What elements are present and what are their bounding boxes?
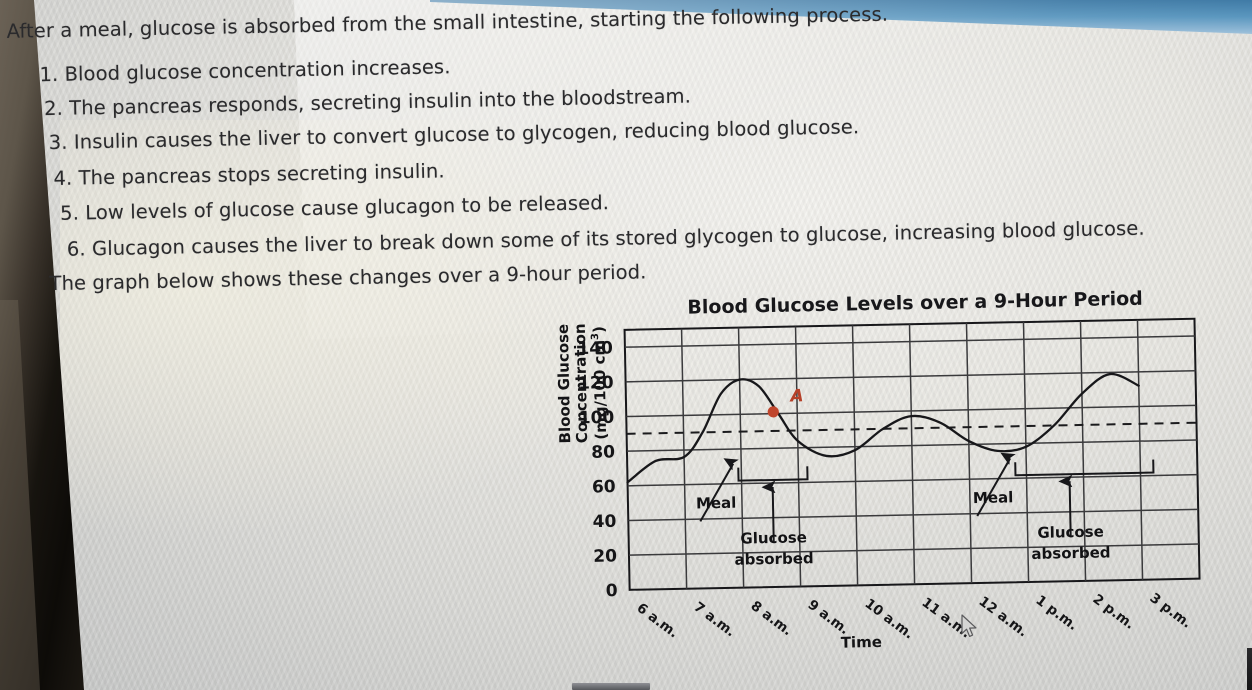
glucose-chart: Blood Glucose Levels over a 9-Hour Perio… xyxy=(504,279,1211,673)
taskbar-nub xyxy=(572,683,650,690)
x-tick-label: 7 a.m. xyxy=(691,599,739,640)
y-tick-label: 0 xyxy=(606,581,618,601)
x-tick-label: 8 a.m. xyxy=(748,598,796,639)
page-content: After a meal, glucose is absorbed from t… xyxy=(0,0,1252,690)
meal-2-label: Meal xyxy=(973,488,1014,507)
x-tick-label: 3 p.m. xyxy=(1147,590,1195,632)
y-tick-label: 60 xyxy=(592,477,616,497)
y-tick-label: 100 xyxy=(579,408,615,429)
chart-plot-area: 020406080100120140 6 a.m.7 a.m.8 a.m.9 a… xyxy=(504,279,1211,673)
y-tick-label: 20 xyxy=(593,546,617,566)
x-tick-label: 1 p.m. xyxy=(1033,592,1081,634)
screenshot-root: After a meal, glucose is absorbed from t… xyxy=(0,0,1252,690)
x-tick-label: 2 p.m. xyxy=(1090,591,1138,633)
y-tick-label: 40 xyxy=(592,512,616,532)
y-tick-label: 80 xyxy=(591,442,615,462)
intro-paragraph: After a meal, glucose is absorbed from t… xyxy=(6,3,888,43)
x-tick-label: 9 a.m. xyxy=(805,597,853,638)
glucose-absorbed-1-label-line2: absorbed xyxy=(734,549,813,569)
glucose-absorbed-2-label-line2: absorbed xyxy=(1031,543,1110,563)
process-step-4: 4. The pancreas stops secreting insulin. xyxy=(53,159,445,190)
x-tick-labels: 6 a.m.7 a.m.8 a.m.9 a.m.10 a.m.11 a.m.12… xyxy=(633,589,1195,648)
x-tick-label: 10 a.m. xyxy=(862,596,917,643)
glucose-absorbed-2-bracket xyxy=(1015,460,1153,476)
process-step-3: 3. Insulin causes the liver to convert g… xyxy=(49,115,860,154)
glucose-absorbed-1-label-line1: Glucose xyxy=(740,528,807,547)
x-tick-label: 6 a.m. xyxy=(634,600,682,641)
meal-1-arrow xyxy=(699,464,734,522)
glucose-curve xyxy=(626,372,1141,483)
y-tick-label: 140 xyxy=(577,338,613,359)
meal-2-arrow xyxy=(976,458,1011,516)
screen-edge-right xyxy=(1247,648,1252,690)
meal-1-label: Meal xyxy=(696,494,737,513)
point-a-label: A xyxy=(788,386,804,406)
y-tick-labels: 020406080100120140 xyxy=(577,338,618,601)
point-a-marker xyxy=(768,406,779,417)
chart-gridlines xyxy=(625,319,1200,590)
mouse-pointer-icon xyxy=(960,614,982,640)
glucose-absorbed-1-bracket xyxy=(738,466,807,480)
process-step-1: 1. Blood glucose concentration increases… xyxy=(39,55,450,86)
process-step-5: 5. Low levels of glucose cause glucagon … xyxy=(60,191,609,225)
y-tick-label: 120 xyxy=(578,373,614,394)
glucose-absorbed-2-label-line1: Glucose xyxy=(1037,523,1104,542)
process-step-6: 6. Glucagon causes the liver to break do… xyxy=(67,217,1145,261)
x-tick-label: 12 a.m. xyxy=(976,593,1031,640)
process-step-2: 2. The pancreas responds, secreting insu… xyxy=(44,85,691,121)
